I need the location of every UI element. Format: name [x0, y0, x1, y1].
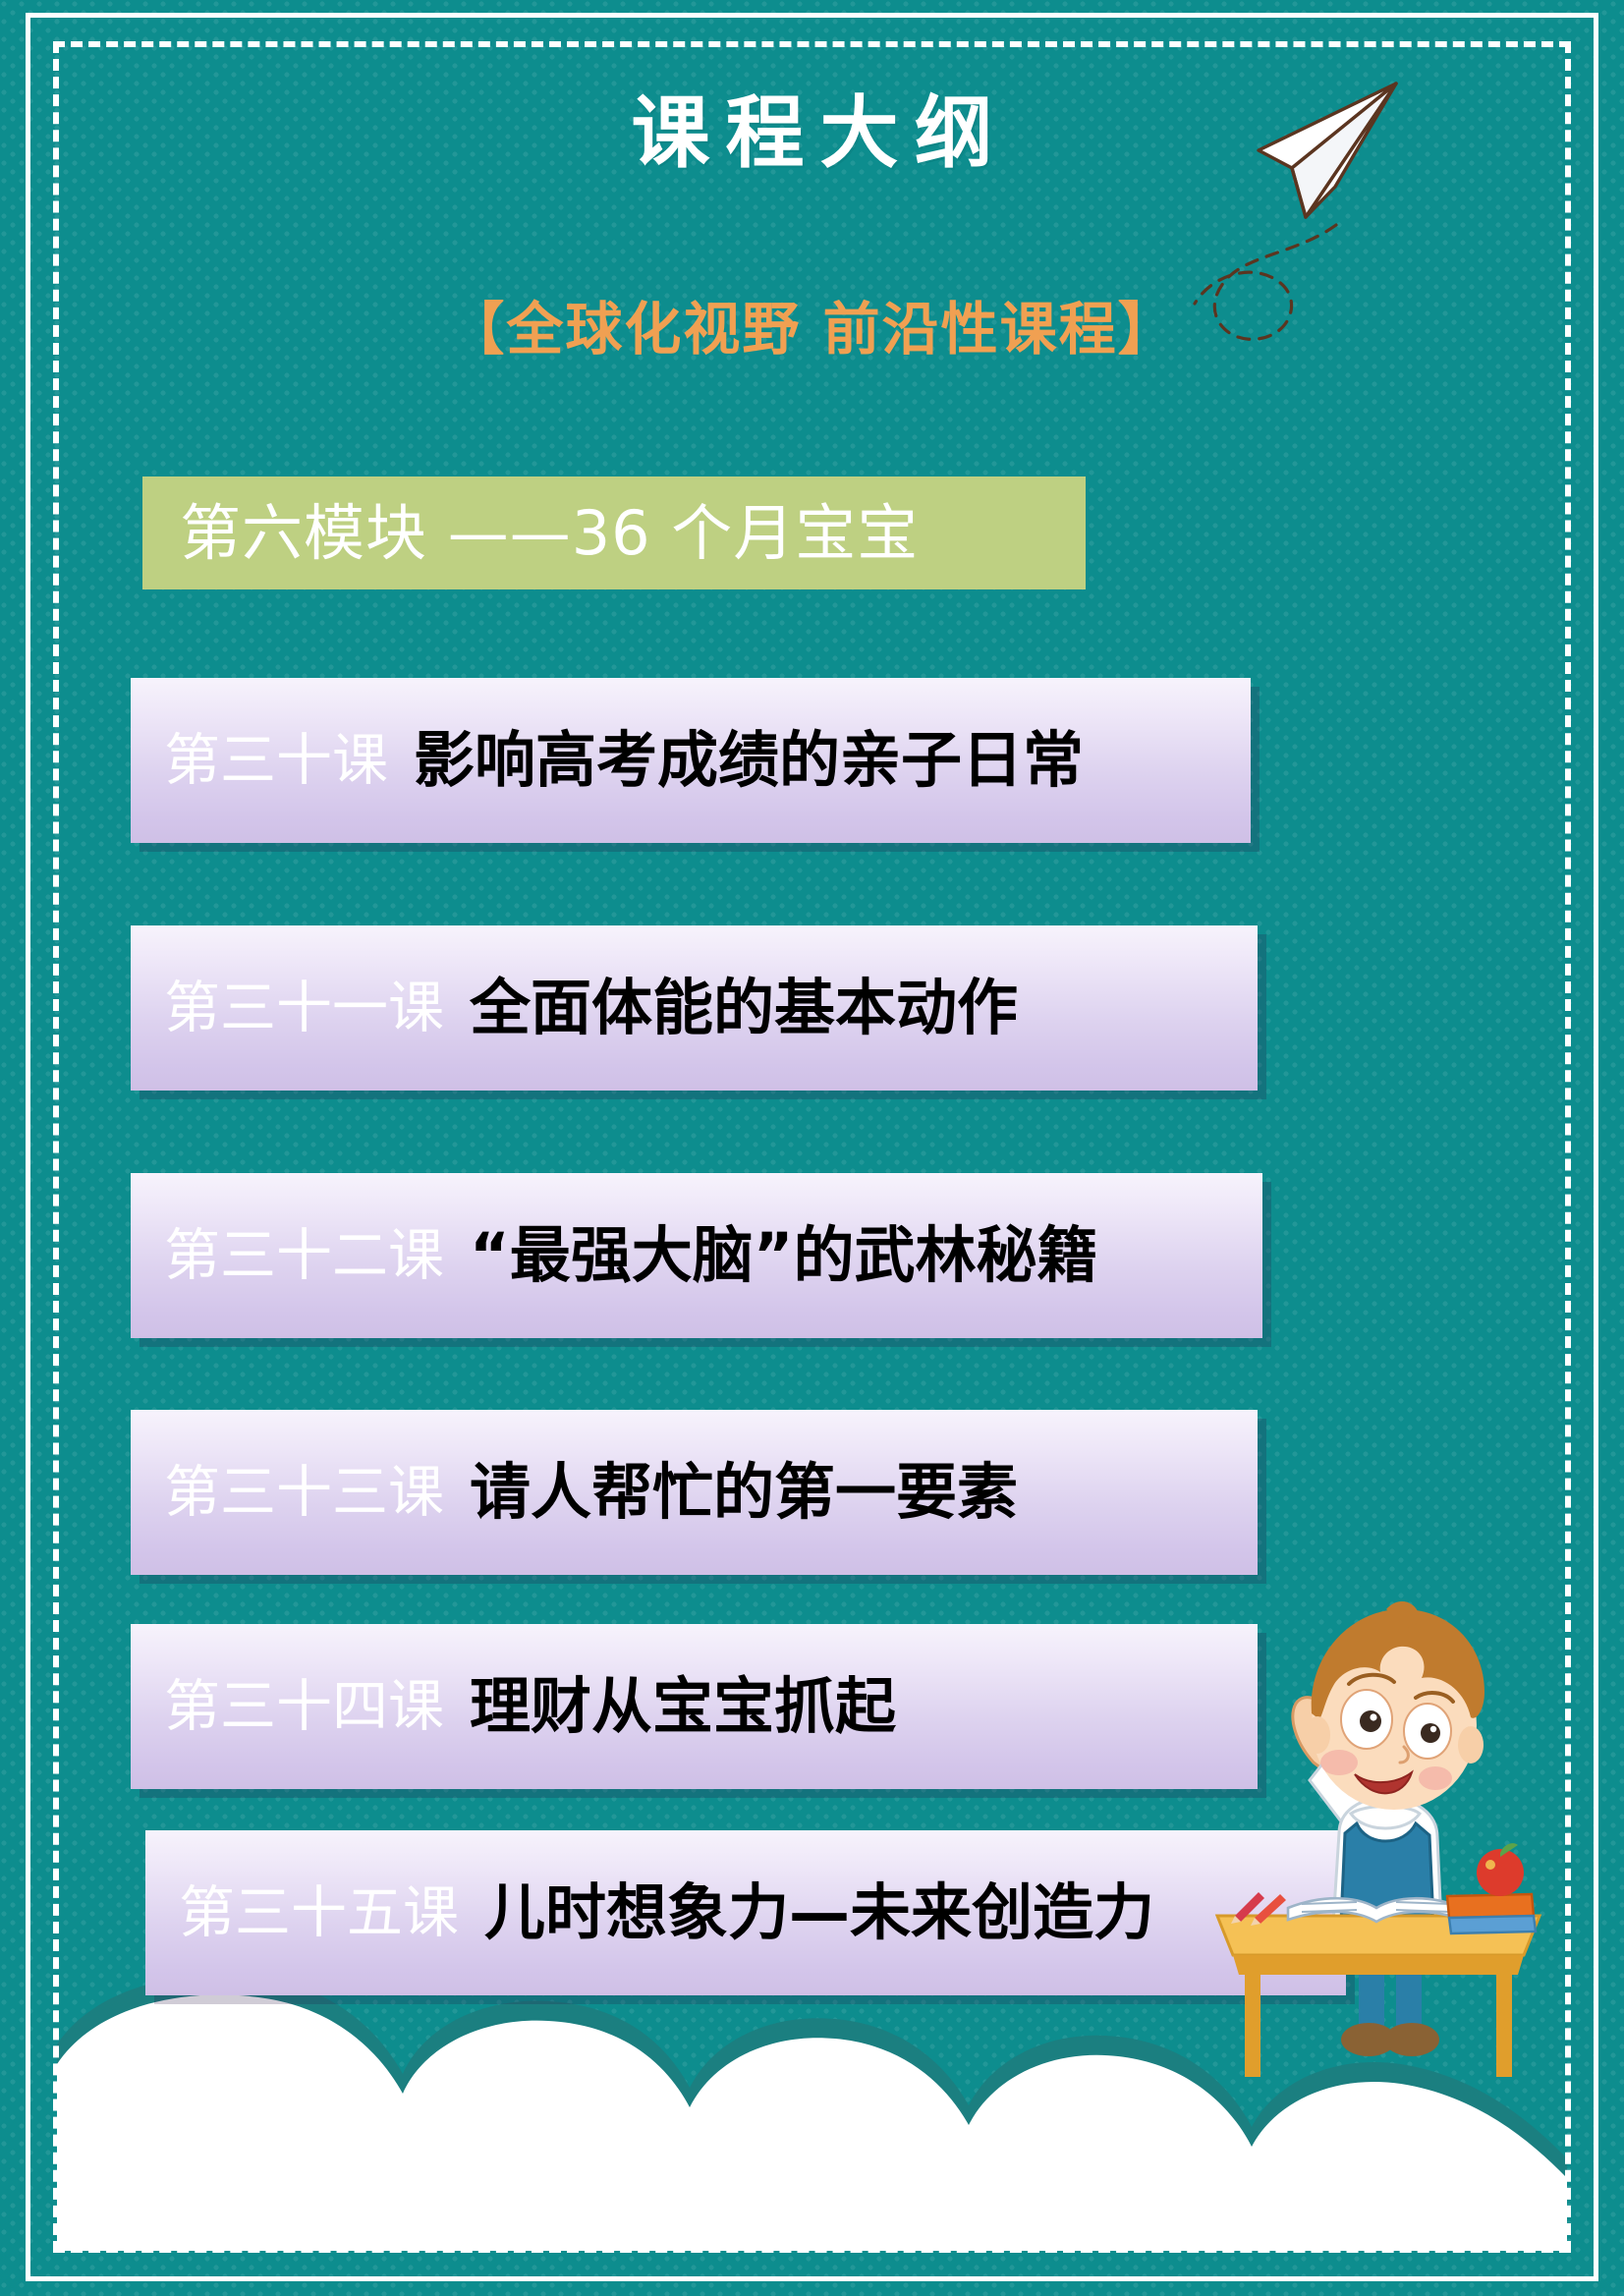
lesson-number: 第三十四课: [164, 1679, 444, 1735]
lesson-row[interactable]: 第三十课 影响高考成绩的亲子日常: [131, 678, 1251, 843]
page-subtitle: 【全球化视野 前沿性课程】: [0, 301, 1624, 358]
lesson-title: 影响高考成绩的亲子日常: [414, 730, 1084, 791]
lesson-row[interactable]: 第三十二课 “最强大脑”的武林秘籍: [131, 1173, 1262, 1338]
module-label: 第六模块 ——36 个月宝宝: [142, 503, 919, 564]
lesson-title: 请人帮忙的第一要素: [470, 1462, 1018, 1523]
lesson-number: 第三十三课: [164, 1465, 444, 1521]
lesson-number: 第三十课: [164, 733, 388, 789]
lesson-number: 第三十五课: [179, 1885, 459, 1941]
dashed-loop-trail-icon: [1189, 221, 1346, 359]
lesson-number: 第三十二课: [164, 1228, 444, 1284]
lesson-row[interactable]: 第三十三课 请人帮忙的第一要素: [131, 1410, 1258, 1575]
paper-airplane-icon: [1221, 74, 1408, 236]
lesson-title: 理财从宝宝抓起: [470, 1676, 896, 1737]
lesson-title: 全面体能的基本动作: [470, 978, 1018, 1038]
lesson-title: “最强大脑”的武林秘籍: [470, 1225, 1098, 1286]
lesson-row[interactable]: 第三十四课 理财从宝宝抓起: [131, 1624, 1258, 1789]
lesson-number: 第三十一课: [164, 980, 444, 1036]
course-outline-poster: 课程大纲 【全球化视野 前沿性课程】 第六模块 ——36 个月宝宝 第三十课 影…: [0, 0, 1624, 2296]
poster-header: 课程大纲 【全球化视野 前沿性课程】: [0, 0, 1624, 422]
lesson-row[interactable]: 第三十五课 儿时想象力—未来创造力: [145, 1830, 1346, 1995]
lesson-title: 儿时想象力—未来创造力: [484, 1882, 1154, 1943]
lesson-row[interactable]: 第三十一课 全面体能的基本动作: [131, 925, 1258, 1091]
module-header-bar: 第六模块 ——36 个月宝宝: [142, 476, 1086, 589]
